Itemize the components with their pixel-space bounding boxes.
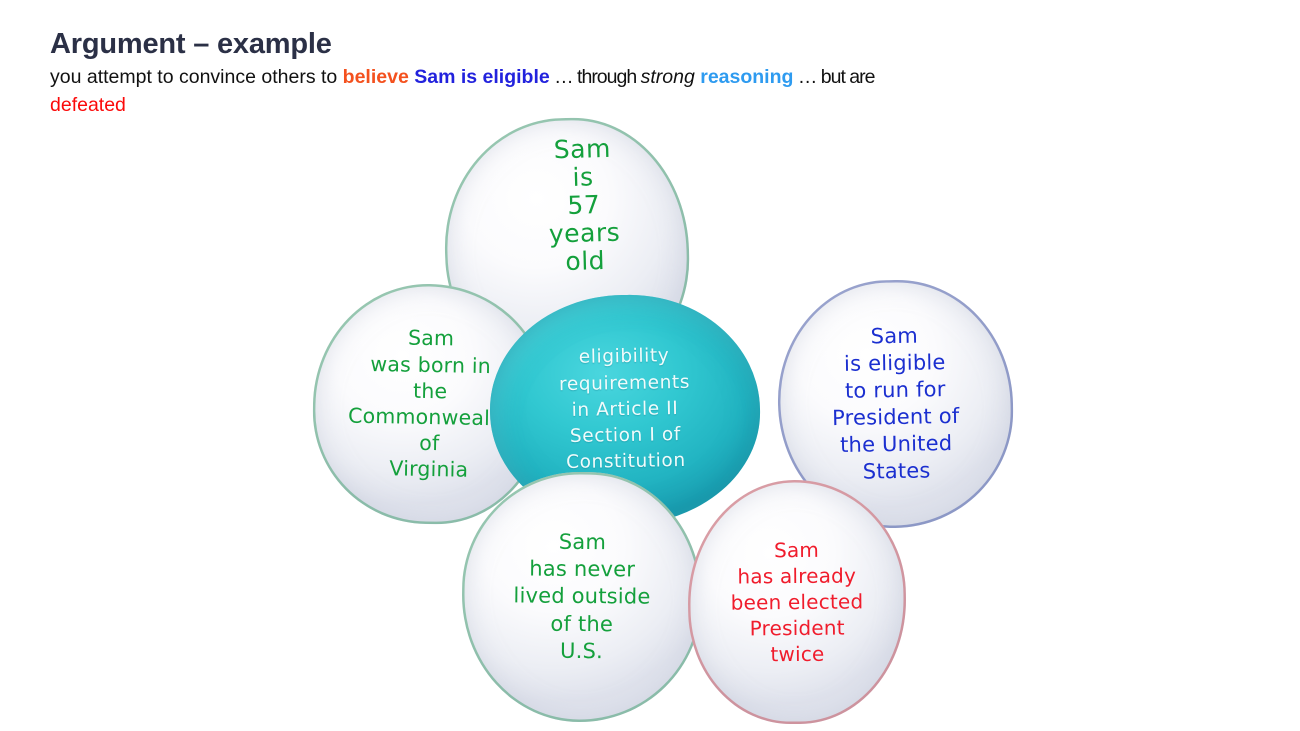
stone-line: Commonwealth [348,403,512,432]
slide-header: Argument – example you attempt to convin… [50,28,1170,120]
stone-line: requirements [559,369,690,398]
stone-line: twice [731,640,864,667]
stone-line: States [833,457,961,486]
stone-line: been elected [731,588,864,615]
subtitle-connector-2: … but are [793,66,874,88]
stone-line: President [731,614,864,641]
stone-line: has never [514,555,651,583]
subtitle-emphasis-claim: Sam is eligible [414,66,549,88]
stone-line: years [549,219,621,249]
stone-text-rebuttal: Sam has already been elected President t… [730,536,864,667]
stone-line: Virginia [347,455,511,484]
stone-line: to run for [831,376,959,405]
stone-line: lived outside [513,583,650,611]
stone-premise-residency: Sam has never lived outside of the U.S. [461,471,703,723]
stone-line: Section I of [560,422,691,451]
painted-stone-diagram: Sam is 57 years old Sam was born in the … [300,110,1000,680]
stone-line: of [347,429,511,458]
stone-line: Sam [546,135,618,165]
subtitle-emphasis-defeated: defeated [50,94,126,116]
stone-line: Sam [730,536,863,563]
subtitle-connector-1: … through [550,66,641,88]
stone-line: U.S. [513,637,650,665]
stone-rebuttal-elected-twice: Sam has already been elected President t… [687,479,907,725]
stone-line: old [549,247,621,277]
stone-line: the [348,376,512,405]
stone-line: eligibility [558,343,689,372]
subtitle-emphasis-strong: strong [641,66,695,88]
stone-text-premise-residency: Sam has never lived outside of the U.S. [513,528,651,666]
stone-text-premise-birthplace: Sam was born in the Commonwealth of Virg… [347,324,513,484]
stone-text-premise-age: Sam is 57 years old [510,135,621,278]
page-title: Argument – example [50,28,1170,60]
stone-text-conclusion: Sam is eligible to run for President of … [830,322,960,485]
stone-line: in Article II [559,396,690,425]
stone-line: is eligible [831,349,959,378]
stone-text-warrant: eligibility requirements in Article II S… [558,343,691,477]
subtitle-text-lead: you attempt to convince others to [50,66,343,88]
stone-line: the United [832,430,960,459]
stone-line: Sam [349,324,513,353]
subtitle-emphasis-reasoning: reasoning [700,66,793,88]
stone-line: President of [832,403,960,432]
stone-line: 57 [548,191,620,221]
stone-line: Sam [514,528,651,556]
stone-line: has already [730,562,863,589]
stone-line: is [547,163,619,193]
subtitle-emphasis-believe: believe [343,66,409,88]
stone-line: of the [513,610,650,638]
stone-line: was born in [349,350,513,379]
stone-line: Sam [830,322,958,351]
